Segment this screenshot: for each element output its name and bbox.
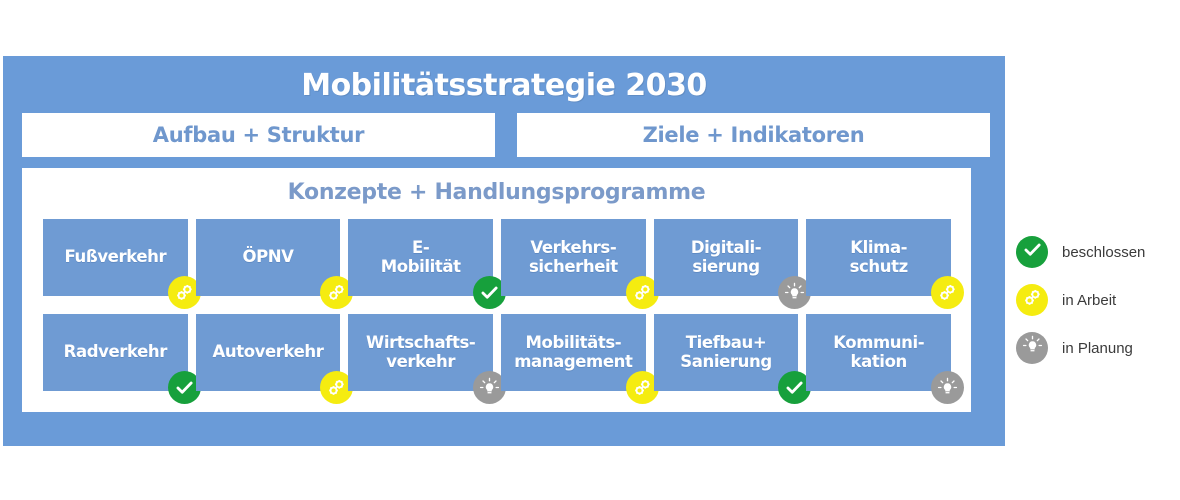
gears-icon — [174, 282, 195, 303]
concept-tile[interactable]: Verkehrs-sicherheit — [501, 219, 646, 296]
concept-tile-label: ÖPNV — [239, 248, 296, 266]
concept-tile[interactable]: Fußverkehr — [43, 219, 188, 296]
concept-tile-label: Klima-schutz — [847, 239, 911, 276]
concept-tile-label: Verkehrs-sicherheit — [526, 239, 621, 276]
concept-tile[interactable]: Radverkehr — [43, 314, 188, 391]
check-icon — [174, 377, 195, 398]
legend-item: in Arbeit — [1016, 276, 1180, 324]
concept-tile[interactable]: Mobilitäts-management — [501, 314, 646, 391]
gears-icon — [937, 282, 958, 303]
concept-tile-label: Digitali-sierung — [688, 239, 764, 276]
check-icon — [479, 282, 500, 303]
top-panel-2[interactable]: Ziele + Indikatoren — [517, 113, 990, 157]
status-legend: beschlossenin Arbeitin Planung — [1016, 228, 1180, 372]
legend-badge-done — [1016, 236, 1048, 268]
strategy-frame: Mobilitätsstrategie 2030 Aufbau + Strukt… — [3, 56, 1005, 446]
concept-tile[interactable]: Digitali-sierung — [654, 219, 799, 296]
concept-tile-label: Mobilitäts-management — [511, 334, 635, 371]
concepts-heading: Konzepte + Handlungsprogramme — [22, 180, 971, 205]
concept-tile-label: Fußverkehr — [61, 248, 169, 266]
concept-tile[interactable]: Autoverkehr — [196, 314, 341, 391]
top-panel-group: Aufbau + StrukturZiele + Indikatoren — [22, 113, 990, 157]
top-panel-label: Ziele + Indikatoren — [643, 123, 865, 147]
legend-badge-work — [1016, 284, 1048, 316]
concept-tile-label: Autoverkehr — [209, 343, 326, 361]
gears-icon — [1022, 287, 1043, 313]
status-badge-work — [931, 276, 964, 309]
legend-badge-plan — [1016, 332, 1048, 364]
concept-tile-label: Kommuni-kation — [830, 334, 927, 371]
concept-tile[interactable]: Kommuni-kation — [806, 314, 951, 391]
concept-tile[interactable]: ÖPNV — [196, 219, 341, 296]
lightbulb-icon — [479, 377, 500, 398]
concept-tile-label: E-Mobilität — [378, 239, 464, 276]
page-title: Mobilitätsstrategie 2030 — [3, 68, 1005, 103]
gears-icon — [326, 377, 347, 398]
legend-item: beschlossen — [1016, 228, 1180, 276]
tile-grid: FußverkehrÖPNVE-MobilitätVerkehrs-sicher… — [43, 219, 951, 391]
check-icon — [1022, 239, 1043, 265]
concept-tile[interactable]: Tiefbau+Sanierung — [654, 314, 799, 391]
concept-tile[interactable]: E-Mobilität — [348, 219, 493, 296]
concept-tile[interactable]: Klima-schutz — [806, 219, 951, 296]
gears-icon — [326, 282, 347, 303]
gears-icon — [632, 377, 653, 398]
concept-tile-label: Radverkehr — [61, 343, 170, 361]
top-panel-1[interactable]: Aufbau + Struktur — [22, 113, 495, 157]
tile-row: RadverkehrAutoverkehrWirtschafts-verkehr… — [43, 314, 951, 391]
lightbulb-icon — [784, 282, 805, 303]
legend-item: in Planung — [1016, 324, 1180, 372]
concept-tile[interactable]: Wirtschafts-verkehr — [348, 314, 493, 391]
legend-label: in Planung — [1062, 340, 1133, 357]
check-icon — [784, 377, 805, 398]
lightbulb-icon — [937, 377, 958, 398]
gears-icon — [632, 282, 653, 303]
concept-tile-label: Tiefbau+Sanierung — [677, 334, 774, 371]
status-badge-plan — [931, 371, 964, 404]
concept-tile-label: Wirtschafts-verkehr — [363, 334, 478, 371]
tile-row: FußverkehrÖPNVE-MobilitätVerkehrs-sicher… — [43, 219, 951, 296]
lightbulb-icon — [1022, 335, 1043, 361]
top-panel-label: Aufbau + Struktur — [153, 123, 364, 147]
legend-label: in Arbeit — [1062, 292, 1116, 309]
legend-label: beschlossen — [1062, 244, 1145, 261]
concepts-panel: Konzepte + Handlungsprogramme Fußverkehr… — [22, 168, 971, 412]
